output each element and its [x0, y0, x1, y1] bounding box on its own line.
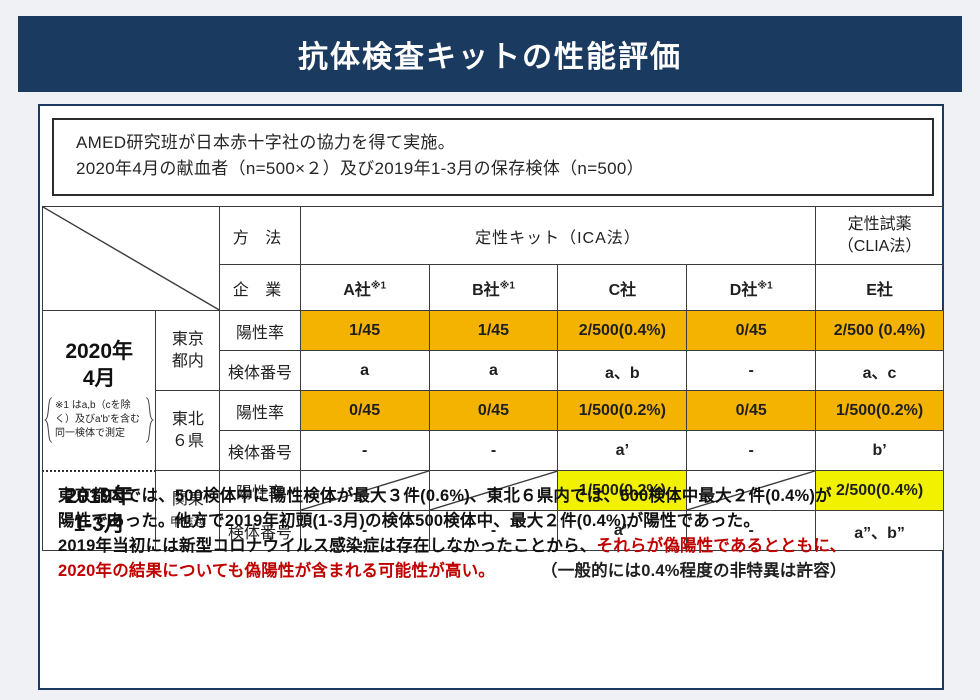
- brace-right-icon: [145, 397, 154, 443]
- cell-tohoku-rate-b: 0/45: [429, 391, 558, 431]
- header-group-clia-line2: （CLIA法）: [817, 236, 942, 258]
- cell-tohoku-rate-a: 0/45: [300, 391, 429, 431]
- diagonal-line-icon: [43, 207, 219, 310]
- summary-line-2: 陽性であった。他方で2019年初頭(1-3月)の検体500検体中、最大２件(0.…: [58, 509, 932, 534]
- summary-line-3-red: それらが偽陽性であるとともに、: [597, 537, 847, 555]
- footnote-text: ※1 はa,b（cを除く）及びa'b'を含む同一検体で測定: [55, 400, 140, 439]
- cell-tohoku-sample-b: -: [429, 431, 558, 471]
- page-title: 抗体検査キットの性能評価: [298, 32, 682, 76]
- slide-root: 抗体検査キットの性能評価 AMED研究班が日本赤十字社の協力を得て実施。 202…: [0, 0, 980, 700]
- cell-tokyo-sample-e: a、c: [816, 351, 944, 391]
- cell-tokyo-rate-e: 2/500 (0.4%): [816, 311, 944, 351]
- region-cell-tohoku: 東北 ６県: [156, 391, 220, 471]
- company-name-d: D社: [730, 282, 758, 299]
- company-mark-a: ※1: [371, 280, 386, 291]
- header-company-c: C社: [558, 265, 687, 311]
- header-group-kit: 定性キット（ICA法）: [300, 207, 815, 265]
- metric-label-sample-no-tokyo: 検体番号: [220, 351, 300, 391]
- company-name-b: B社: [472, 282, 500, 299]
- summary-line-1: 東京都内では、500検体中に陽性検体が最大３件(0.6%)、東北６県内では、50…: [58, 484, 932, 509]
- header-group-clia: 定性試薬 （CLIA法）: [816, 207, 944, 265]
- cell-tokyo-rate-d: 0/45: [687, 311, 816, 351]
- region-label-tokyo-line1: 東京: [157, 329, 218, 351]
- metric-label-positive-rate-tokyo: 陽性率: [220, 311, 300, 351]
- cell-tokyo-sample-a: a: [300, 351, 429, 391]
- table-row-tokyo-positive-rate: 2020年 4月 ※1 はa,b（cを除く）及びa'b'を含む同一検体で測定: [43, 311, 944, 351]
- summary-line-4: 2020年の結果についても偽陽性が含まれる可能性が高い。（一般的には0.4%程度…: [58, 559, 932, 584]
- table-header-row-method: 方 法 定性キット（ICA法） 定性試薬 （CLIA法）: [43, 207, 944, 265]
- header-method-label: 方 法: [220, 207, 300, 265]
- header-company-a: A社※1: [300, 265, 429, 311]
- cell-tokyo-sample-c: a、b: [558, 351, 687, 391]
- period-cell-2020: 2020年 4月 ※1 はa,b（cを除く）及びa'b'を含む同一検体で測定: [43, 311, 156, 471]
- company-name-e: E社: [866, 282, 893, 299]
- cell-tokyo-rate-a: 1/45: [300, 311, 429, 351]
- company-name-a: A社: [343, 282, 371, 299]
- region-label-tohoku-line1: 東北: [157, 409, 218, 431]
- metric-label-sample-no-tohoku: 検体番号: [220, 431, 300, 471]
- header-company-label: 企 業: [220, 265, 300, 311]
- header-company-b: B社※1: [429, 265, 558, 311]
- region-label-tohoku-line2: ６県: [157, 431, 218, 453]
- header-group-clia-line1: 定性試薬: [817, 214, 942, 236]
- region-label-tokyo-line2: 都内: [157, 351, 218, 373]
- cell-tohoku-sample-c: a’: [558, 431, 687, 471]
- cell-tohoku-sample-e: b’: [816, 431, 944, 471]
- metric-label-positive-rate-tohoku: 陽性率: [220, 391, 300, 431]
- summary-line-3: 2019年当初には新型コロナウイルス感染症は存在しなかったことから、それらが偽陽…: [58, 534, 932, 559]
- cell-tokyo-sample-d: -: [687, 351, 816, 391]
- intro-line-2: 2020年4月の献血者（n=500×２）及び2019年1-3月の保存検体（n=5…: [76, 156, 932, 182]
- cell-tohoku-rate-e: 1/500(0.2%): [816, 391, 944, 431]
- intro-box: AMED研究班が日本赤十字社の協力を得て実施。 2020年4月の献血者（n=50…: [52, 118, 934, 196]
- period-label-2020-line2: 4月: [44, 365, 154, 392]
- company-name-c: C社: [609, 282, 637, 299]
- cell-tohoku-rate-d: 0/45: [687, 391, 816, 431]
- content-card: AMED研究班が日本赤十字社の協力を得て実施。 2020年4月の献血者（n=50…: [38, 104, 944, 690]
- header-company-e: E社: [816, 265, 944, 311]
- cell-tohoku-sample-d: -: [687, 431, 816, 471]
- intro-line-1: AMED研究班が日本赤十字社の協力を得て実施。: [76, 130, 932, 156]
- company-mark-b: ※1: [500, 280, 515, 291]
- cell-tohoku-sample-a: -: [300, 431, 429, 471]
- region-cell-tokyo: 東京 都内: [156, 311, 220, 391]
- summary-line-4-red-a: 2020年の結果についても: [58, 562, 245, 580]
- period-label-2020-line1: 2020年: [44, 338, 154, 365]
- company-mark-d: ※1: [757, 280, 772, 291]
- summary-line-3-black: 2019年当初には新型コロナウイルス感染症は存在しなかったことから、: [58, 537, 597, 555]
- cell-tohoku-rate-c: 1/500(0.2%): [558, 391, 687, 431]
- footnote-mark1: ※1 はa,b（cを除く）及びa'b'を含む同一検体で測定: [44, 397, 154, 443]
- cell-tokyo-rate-b: 1/45: [429, 311, 558, 351]
- cell-tokyo-sample-b: a: [429, 351, 558, 391]
- header-company-d: D社※1: [687, 265, 816, 311]
- summary-line-4-red-b: 偽陽性が含まれる可能性が高い。: [245, 562, 496, 580]
- corner-diagonal-cell: [43, 207, 220, 311]
- cell-tokyo-rate-c: 2/500(0.4%): [558, 311, 687, 351]
- table-row-tohoku-positive-rate: 東北 ６県 陽性率 0/45 0/45 1/500(0.2%) 0/45 1/5…: [43, 391, 944, 431]
- summary-line-4-note: （一般的には0.4%程度の非特異は許容）: [541, 562, 847, 580]
- slide-title-bar: 抗体検査キットの性能評価: [18, 16, 962, 92]
- brace-left-icon: [44, 397, 53, 443]
- summary-block: 東京都内では、500検体中に陽性検体が最大３件(0.6%)、東北６県内では、50…: [50, 480, 936, 584]
